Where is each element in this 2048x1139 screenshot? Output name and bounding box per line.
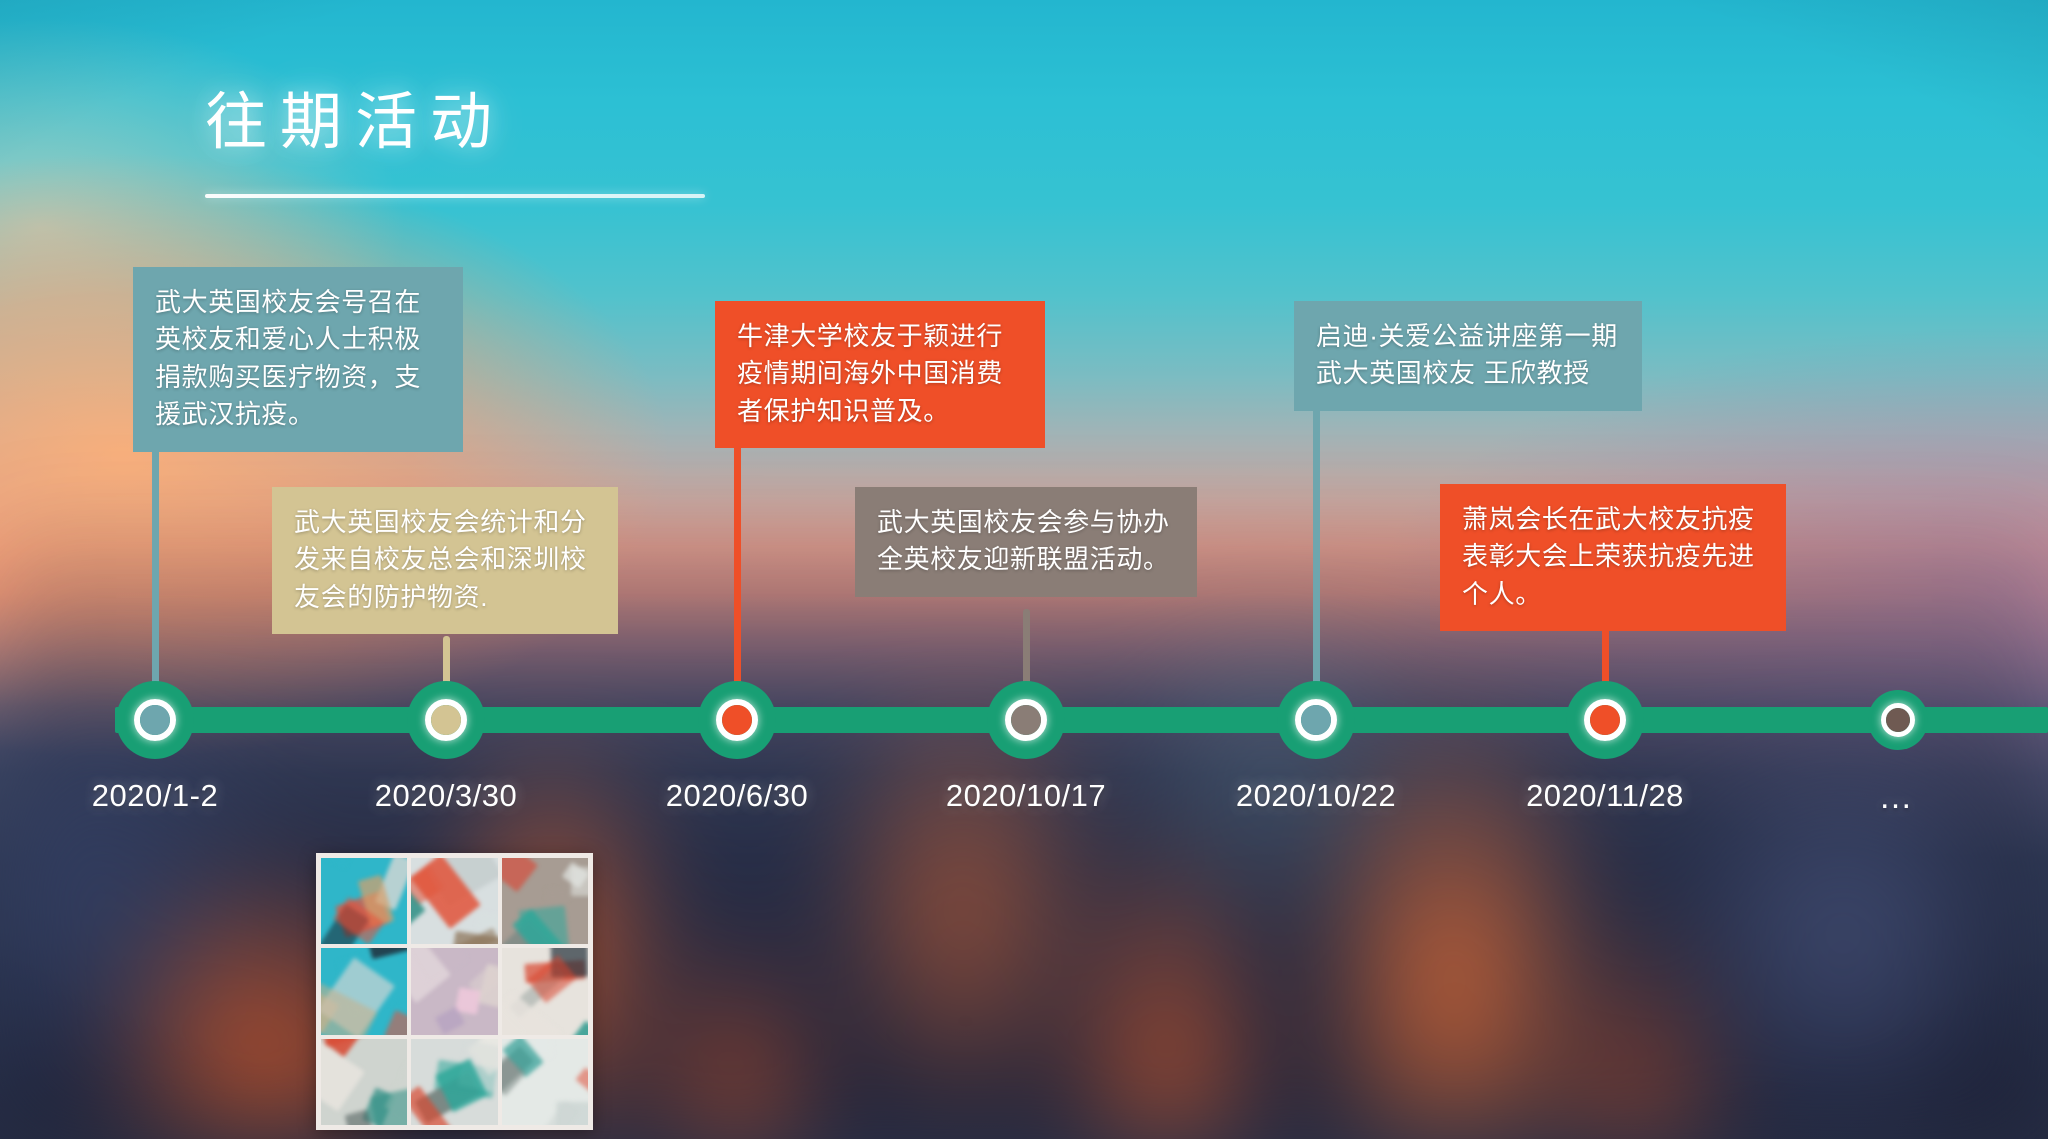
timeline-node-ring bbox=[1881, 703, 1915, 737]
header: 往期活动 bbox=[205, 92, 705, 198]
timeline-date-label: 2020/11/28 bbox=[1526, 778, 1684, 814]
timeline-node[interactable] bbox=[407, 681, 485, 759]
timeline-node-ring bbox=[425, 699, 467, 741]
title-underline bbox=[205, 194, 705, 198]
timeline-node-dot bbox=[1301, 705, 1331, 735]
slide-canvas: 往期活动 武大英国校友会号召在英校友和爱心人士积极捐款购买医疗物资，支援武汉抗疫… bbox=[0, 0, 2048, 1139]
timeline-card[interactable]: 武大英国校友会参与协办全英校友迎新联盟活动。 bbox=[855, 487, 1197, 597]
timeline-node[interactable] bbox=[1277, 681, 1355, 759]
page-title: 往期活动 bbox=[205, 92, 705, 154]
timeline-node[interactable] bbox=[1868, 690, 1928, 750]
timeline-node-ring bbox=[134, 699, 176, 741]
timeline-card[interactable]: 萧岚会长在武大校友抗疫表彰大会上荣获抗疫先进个人。 bbox=[1440, 484, 1786, 631]
timeline-node-dot bbox=[1011, 705, 1041, 735]
timeline-date-label: 2020/3/30 bbox=[375, 778, 517, 814]
collage-tile bbox=[321, 858, 407, 944]
timeline-node-dot bbox=[1886, 708, 1910, 732]
timeline-node-ring bbox=[1295, 699, 1337, 741]
timeline-date-label: 2020/10/17 bbox=[946, 778, 1106, 814]
timeline-node[interactable] bbox=[987, 681, 1065, 759]
timeline-date-label: … bbox=[1879, 778, 1918, 817]
timeline-date-label: 2020/1-2 bbox=[92, 778, 218, 814]
collage-tile bbox=[411, 948, 497, 1034]
timeline-node-ring bbox=[1584, 699, 1626, 741]
collage-tile bbox=[502, 948, 588, 1034]
timeline-card[interactable]: 牛津大学校友于颖进行疫情期间海外中国消费者保护知识普及。 bbox=[715, 301, 1045, 448]
timeline-node-dot bbox=[722, 705, 752, 735]
collage-tile bbox=[502, 1039, 588, 1125]
timeline-node-dot bbox=[1590, 705, 1620, 735]
collage-tile bbox=[411, 858, 497, 944]
timeline-card[interactable]: 启迪·关爱公益讲座第一期武大英国校友 王欣教授 bbox=[1294, 301, 1642, 411]
timeline-node-dot bbox=[431, 705, 461, 735]
collage-tile bbox=[321, 1039, 407, 1125]
collage-tile bbox=[502, 858, 588, 944]
timeline-node[interactable] bbox=[698, 681, 776, 759]
collage-tile bbox=[411, 1039, 497, 1125]
timeline-date-label: 2020/10/22 bbox=[1236, 778, 1396, 814]
timeline-rail bbox=[115, 707, 2048, 733]
timeline-node-dot bbox=[140, 705, 170, 735]
timeline-node-ring bbox=[716, 699, 758, 741]
photo-collage bbox=[316, 853, 593, 1130]
timeline-node-ring bbox=[1005, 699, 1047, 741]
timeline-card[interactable]: 武大英国校友会号召在英校友和爱心人士积极捐款购买医疗物资，支援武汉抗疫。 bbox=[133, 267, 463, 452]
collage-tile bbox=[321, 948, 407, 1034]
timeline-node[interactable] bbox=[1566, 681, 1644, 759]
timeline-date-label: 2020/6/30 bbox=[666, 778, 808, 814]
timeline-node[interactable] bbox=[116, 681, 194, 759]
timeline-card[interactable]: 武大英国校友会统计和分发来自校友总会和深圳校友会的防护物资. bbox=[272, 487, 618, 634]
